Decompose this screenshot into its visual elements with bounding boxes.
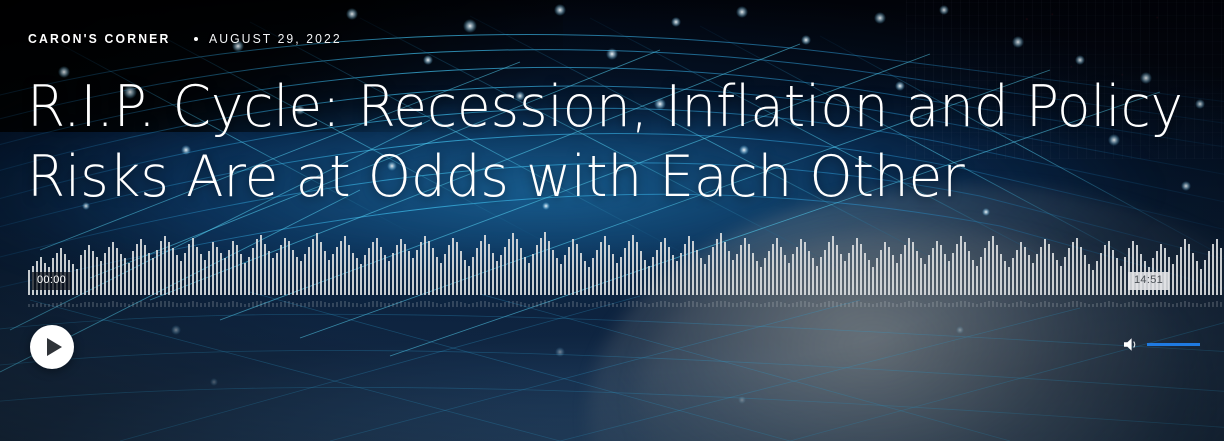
waveform-bar	[356, 258, 358, 295]
waveform-bar-reflection	[1072, 301, 1074, 307]
waveform-bar	[100, 261, 102, 295]
waveform-bar-reflection	[1208, 302, 1210, 307]
waveform-bar-reflection	[772, 302, 774, 307]
waveform-bar-reflection	[372, 301, 374, 307]
waveform-bar	[876, 258, 878, 295]
waveform-bar	[368, 248, 370, 295]
waveform-bar-reflection	[640, 302, 642, 307]
waveform-bar-reflection	[460, 302, 462, 307]
waveform-bar	[252, 248, 254, 295]
waveform-bar	[728, 251, 730, 295]
waveform-bar	[1212, 244, 1214, 295]
waveform-bar-reflection	[540, 301, 542, 307]
waveform-bar	[1024, 247, 1026, 295]
waveform-bar	[560, 264, 562, 295]
waveform-bar-reflection	[60, 302, 62, 307]
waveform-bar	[1008, 267, 1010, 295]
waveform-bar	[1072, 242, 1074, 295]
waveform-bar-reflection	[436, 303, 438, 307]
waveform-bar-reflection	[904, 302, 906, 307]
waveform-bar	[1060, 266, 1062, 295]
waveform-bar	[128, 263, 130, 295]
waveform-bar-reflection	[932, 302, 934, 307]
waveform-bar	[604, 236, 606, 295]
waveform-bar	[1032, 263, 1034, 295]
waveform-bar	[528, 263, 530, 295]
waveform-bar-reflection	[444, 303, 446, 307]
waveform-bar-reflection	[244, 304, 246, 307]
waveform-bar-reflection	[564, 303, 566, 307]
waveform-bar	[1176, 255, 1178, 295]
waveform-bar	[1116, 258, 1118, 295]
waveform-bar	[404, 244, 406, 295]
waveform-bar	[508, 239, 510, 295]
waveform-bar	[244, 263, 246, 295]
waveform-bar	[228, 250, 230, 295]
waveform-bar-reflection	[616, 304, 618, 307]
waveform-bar-reflection	[776, 301, 778, 307]
waveform-bar-reflection	[56, 303, 58, 307]
waveform-bar	[136, 244, 138, 295]
waveform-bar	[1124, 257, 1126, 295]
waveform-bar	[92, 251, 94, 295]
waveform-bar-reflection	[432, 302, 434, 307]
waveform-bar	[828, 242, 830, 295]
waveform-bar	[636, 242, 638, 295]
waveform-bar-reflection	[612, 303, 614, 307]
waveform-bar	[1108, 241, 1110, 295]
waveform-bar-reflection	[520, 302, 522, 307]
waveform-bar	[576, 244, 578, 295]
waveform-bar-reflection	[956, 302, 958, 307]
waveform-bar	[1100, 253, 1102, 295]
waveform-bar	[660, 242, 662, 295]
waveform-bar-reflection	[96, 303, 98, 307]
waveform-bar	[688, 236, 690, 295]
waveform-bar-reflection	[368, 302, 370, 307]
waveform-bar-reflection	[656, 302, 658, 307]
waveform-bar-reflection	[1092, 304, 1094, 307]
waveform-bar-reflection	[340, 301, 342, 307]
waveform-bar	[432, 248, 434, 295]
waveform-bar	[1020, 242, 1022, 295]
waveform-bar	[536, 245, 538, 295]
waveform-bar-reflection	[760, 304, 762, 307]
waveform-bar	[1052, 253, 1054, 295]
waveform-bar-reflection	[1212, 302, 1214, 307]
waveform-bar-reflection	[1180, 302, 1182, 307]
waveform-bar-reflection	[504, 302, 506, 307]
waveform-bar-reflection	[496, 303, 498, 307]
waveform-bar-reflection	[1120, 304, 1122, 307]
waveform-bar	[236, 245, 238, 295]
waveform-bar-reflection	[164, 301, 166, 307]
waveform-bar	[928, 255, 930, 295]
waveform-bar	[724, 242, 726, 295]
waveform-bar-reflection	[744, 301, 746, 307]
waveform-bar-reflection	[172, 302, 174, 307]
waveform-bar	[940, 245, 942, 295]
waveform-bar-reflection	[820, 303, 822, 307]
waveform-bar-reflection	[664, 301, 666, 307]
column-name-link[interactable]: CARON'S CORNER	[28, 31, 170, 46]
waveform-bar	[816, 266, 818, 295]
waveform-bar-reflection	[240, 303, 242, 307]
waveform-bar	[440, 263, 442, 295]
current-time-label: 00:00	[32, 272, 71, 290]
waveform-bar	[392, 253, 394, 295]
waveform-bar	[540, 238, 542, 295]
waveform-bar	[184, 253, 186, 295]
waveform-bar	[944, 254, 946, 295]
waveform-bar-reflection	[1200, 304, 1202, 307]
waveform-bar	[564, 255, 566, 295]
waveform-bar	[268, 251, 270, 295]
waveform-bar-reflection	[1184, 301, 1186, 307]
waveform-bar-reflection	[796, 302, 798, 307]
waveform-bar	[1172, 264, 1174, 295]
waveform-bar-reflection	[48, 304, 50, 307]
waveform-bar	[476, 248, 478, 295]
waveform-bar-reflection	[168, 301, 170, 307]
waveform-bar-reflection	[512, 301, 514, 307]
waveform-bar	[872, 267, 874, 295]
waveform-bar	[332, 254, 334, 295]
waveform-bar-reflection	[424, 301, 426, 307]
waveform-bar-reflection	[976, 304, 978, 307]
waveform-bar	[360, 264, 362, 295]
waveform-bar-reflection	[952, 303, 954, 307]
waveform-bar	[584, 261, 586, 295]
waveform-bar	[488, 244, 490, 295]
audio-player: 00:00 14:51	[0, 232, 1224, 432]
waveform-bar-reflection	[352, 303, 354, 307]
waveform-bar-reflection	[124, 303, 126, 307]
waveform-bar-reflection	[1220, 302, 1222, 307]
audio-waveform-scrubber[interactable]	[28, 232, 1126, 295]
waveform-bar-reflection	[392, 303, 394, 307]
waveform-bar	[888, 247, 890, 295]
waveform-bar	[344, 236, 346, 295]
waveform-bar-reflection	[996, 302, 998, 307]
waveform-bar-reflection	[840, 303, 842, 307]
waveform-bar	[496, 261, 498, 295]
waveform-bar-reflection	[836, 302, 838, 307]
waveform-bar	[304, 254, 306, 295]
waveform-bar-reflection	[1128, 302, 1130, 307]
waveform-bar-reflection	[428, 301, 430, 307]
waveform-bar	[916, 251, 918, 295]
waveform-bar	[320, 242, 322, 295]
waveform-bar-reflection	[364, 303, 366, 307]
waveform-bar-reflection	[712, 302, 714, 307]
waveform-bar	[748, 244, 750, 295]
waveform-bar-reflection	[556, 303, 558, 307]
waveform-bar	[376, 238, 378, 295]
waveform-bar	[1220, 248, 1222, 295]
waveform-bar-reflection	[920, 303, 922, 307]
waveform-bar-reflection	[848, 303, 850, 307]
waveform-bar-reflection	[232, 301, 234, 307]
waveform-bar	[240, 254, 242, 295]
publish-date: AUGUST 29, 2022	[209, 31, 342, 46]
waveform-bar	[808, 251, 810, 295]
waveform-bar-reflection	[1064, 303, 1066, 307]
waveform-bar-reflection	[672, 303, 674, 307]
waveform-bar-reflection	[508, 301, 510, 307]
waveform-bar-reflection	[328, 303, 330, 307]
waveform-bar-reflection	[624, 302, 626, 307]
waveform-bar	[544, 232, 546, 295]
waveform-bar-reflection	[1044, 301, 1046, 307]
waveform-bar	[612, 254, 614, 295]
waveform-bar-reflection	[212, 301, 214, 307]
waveform-bar	[932, 248, 934, 295]
waveform-bar-reflection	[524, 303, 526, 307]
waveform-bar	[256, 239, 258, 295]
waveform-bar-reflection	[180, 303, 182, 307]
waveform-bar	[144, 245, 146, 295]
waveform-bar-reflection	[1216, 301, 1218, 307]
waveform-bar	[1016, 250, 1018, 295]
waveform-bar-reflection	[948, 303, 950, 307]
waveform-bar-reflection	[1112, 302, 1114, 307]
waveform-bar	[492, 253, 494, 295]
waveform-bar-reflection	[548, 301, 550, 307]
waveform-bar-reflection	[516, 301, 518, 307]
waveform-bar	[976, 266, 978, 295]
waveform-bar-reflection	[824, 302, 826, 307]
waveform-bar	[912, 242, 914, 295]
waveform-bar-reflection	[724, 301, 726, 307]
waveform-bar-reflection	[412, 303, 414, 307]
waveform-bar-reflection	[688, 301, 690, 307]
waveform-bar	[812, 258, 814, 295]
waveform-bar-reflection	[868, 303, 870, 307]
waveform-bar	[312, 239, 314, 295]
waveform-bar-reflection	[992, 301, 994, 307]
waveform-bar-reflection	[148, 303, 150, 307]
waveform-bar	[896, 263, 898, 295]
waveform-bar-reflection	[1144, 303, 1146, 307]
waveform-bar	[716, 239, 718, 295]
waveform-bar-reflection	[160, 301, 162, 307]
waveform-bar	[772, 244, 774, 295]
waveform-bar-reflection	[1080, 302, 1082, 307]
waveform-bar	[712, 247, 714, 295]
waveform-bar-reflection	[880, 302, 882, 307]
waveform-bar	[1192, 253, 1194, 295]
waveform-bar	[1204, 260, 1206, 295]
waveform-bar-reflection	[940, 302, 942, 307]
waveform-bar-reflection	[812, 303, 814, 307]
waveform-bar-reflection	[228, 302, 230, 307]
waveform-bar	[76, 269, 78, 295]
waveform-bar-reflection	[76, 304, 78, 307]
waveform-bar	[616, 263, 618, 295]
speaker-icon[interactable]	[1123, 337, 1140, 352]
waveform-bar-reflection	[608, 302, 610, 307]
waveform-bar-reflection	[748, 302, 750, 307]
waveform-bar	[992, 236, 994, 295]
waveform-bar	[620, 257, 622, 295]
waveform-bar	[1080, 247, 1082, 295]
waveform-bar-reflection	[252, 302, 254, 307]
waveform-bar-reflection	[128, 304, 130, 307]
waveform-bar	[324, 251, 326, 295]
waveform-bar-reflection	[924, 304, 926, 307]
waveform-bar	[780, 247, 782, 295]
waveform-bar-reflection	[144, 302, 146, 307]
waveform-bar-reflection	[596, 302, 598, 307]
waveform-bar	[400, 239, 402, 295]
waveform-bar-reflection	[32, 304, 34, 307]
waveform-bar-reflection	[316, 301, 318, 307]
waveform-bar	[568, 247, 570, 295]
waveform-bar-reflection	[136, 302, 138, 307]
waveform-bar-reflection	[300, 303, 302, 307]
waveform-bar	[1064, 257, 1066, 295]
volume-slider[interactable]	[1147, 343, 1200, 346]
waveform-bar-reflection	[500, 303, 502, 307]
waveform-bar-reflection	[804, 301, 806, 307]
waveform-bar	[760, 267, 762, 295]
waveform-bar-reflection	[348, 302, 350, 307]
waveform-bar	[956, 244, 958, 295]
waveform-bar	[800, 239, 802, 295]
waveform-bar	[796, 247, 798, 295]
waveform-bar-reflection	[1012, 303, 1014, 307]
waveform-bar-reflection	[308, 302, 310, 307]
waveform-bar	[120, 254, 122, 295]
waveform-bar	[588, 267, 590, 295]
waveform-bar	[380, 247, 382, 295]
waveform-bar	[840, 254, 842, 295]
waveform-bar	[856, 238, 858, 295]
waveform-bar-reflection	[636, 301, 638, 307]
article-hero: CARON'S CORNER AUGUST 29, 2022 R.I.P. Cy…	[0, 0, 1224, 441]
waveform-bar	[96, 257, 98, 295]
waveform-bar	[680, 253, 682, 295]
waveform-bar-reflection	[320, 301, 322, 307]
waveform-bar-reflection	[532, 303, 534, 307]
waveform-bar-reflection	[792, 303, 794, 307]
waveform-bar-reflection	[80, 303, 82, 307]
waveform-bar	[572, 239, 574, 295]
waveform-bar	[104, 253, 106, 295]
waveform-bar-reflection	[312, 301, 314, 307]
waveform-bar	[676, 261, 678, 295]
waveform-bar	[152, 258, 154, 295]
waveform-bar-reflection	[1000, 303, 1002, 307]
waveform-bar	[652, 257, 654, 295]
waveform-bar	[456, 242, 458, 295]
waveform-bar-reflection	[984, 302, 986, 307]
waveform-bar	[1200, 269, 1202, 295]
waveform-bar-reflection	[536, 302, 538, 307]
waveform-bar-reflection	[1140, 303, 1142, 307]
waveform-bar-reflection	[700, 303, 702, 307]
waveform-bar	[308, 247, 310, 295]
waveform-bar-reflection	[184, 303, 186, 307]
waveform-bar-reflection	[784, 303, 786, 307]
waveform-bar-reflection	[872, 304, 874, 307]
waveform-bar-reflection	[336, 302, 338, 307]
waveform-bar-reflection	[1008, 304, 1010, 307]
waveform-bar	[204, 260, 206, 295]
waveform-bar-reflection	[668, 302, 670, 307]
waveform-bar-reflection	[100, 303, 102, 307]
volume-control[interactable]	[1123, 337, 1200, 352]
waveform-bar	[512, 233, 514, 295]
waveform-bar	[720, 233, 722, 295]
waveform-bar	[192, 238, 194, 295]
waveform-bar	[768, 251, 770, 295]
waveform-bar	[472, 257, 474, 295]
waveform-bar	[784, 255, 786, 295]
waveform-bar	[936, 241, 938, 295]
waveform-bar	[1040, 247, 1042, 295]
waveform-bar	[468, 266, 470, 295]
waveform-bar-reflection	[912, 301, 914, 307]
waveform-bar	[708, 255, 710, 295]
waveform-bar	[776, 238, 778, 295]
waveform-bar-reflection	[692, 301, 694, 307]
waveform-bar	[132, 251, 134, 295]
waveform-bar	[628, 241, 630, 295]
waveform-bar-reflection	[648, 304, 650, 307]
waveform-bar	[88, 245, 90, 295]
waveform-bar	[844, 261, 846, 295]
waveform-bar	[72, 264, 74, 295]
waveform-bar	[1012, 258, 1014, 295]
waveform-bar	[968, 251, 970, 295]
play-button[interactable]	[30, 325, 74, 369]
waveform-bar-reflection	[376, 301, 378, 307]
waveform-bar	[624, 248, 626, 295]
waveform-bar	[384, 255, 386, 295]
waveform-bar	[648, 266, 650, 295]
waveform-bar-reflection	[544, 300, 546, 307]
waveform-bar	[1084, 255, 1086, 295]
waveform-bar-reflection	[68, 303, 70, 307]
waveform-bar-reflection	[192, 301, 194, 307]
waveform-bar-reflection	[728, 302, 730, 307]
waveform-bar	[836, 245, 838, 295]
volume-slider-fill	[1147, 343, 1200, 346]
waveform-bar-reflection	[1136, 302, 1138, 307]
waveform-bar	[864, 253, 866, 295]
waveform-bar	[504, 247, 506, 295]
waveform-bar	[644, 260, 646, 295]
waveform-bar-reflection	[680, 303, 682, 307]
waveform-bar	[860, 244, 862, 295]
waveform-bar	[684, 244, 686, 295]
waveform-bar	[1104, 245, 1106, 295]
waveform-bar	[464, 260, 466, 295]
waveform-bar	[672, 255, 674, 295]
waveform-bar-reflection	[200, 303, 202, 307]
waveform-bar	[788, 263, 790, 295]
waveform-bar-reflection	[620, 303, 622, 307]
waveform-bar	[732, 260, 734, 295]
waveform-bar	[276, 253, 278, 295]
kicker-separator-dot	[194, 37, 198, 41]
waveform-bar	[848, 253, 850, 295]
waveform-bar-reflection	[332, 303, 334, 307]
waveform-bar	[480, 241, 482, 295]
waveform-bar-reflection	[204, 303, 206, 307]
